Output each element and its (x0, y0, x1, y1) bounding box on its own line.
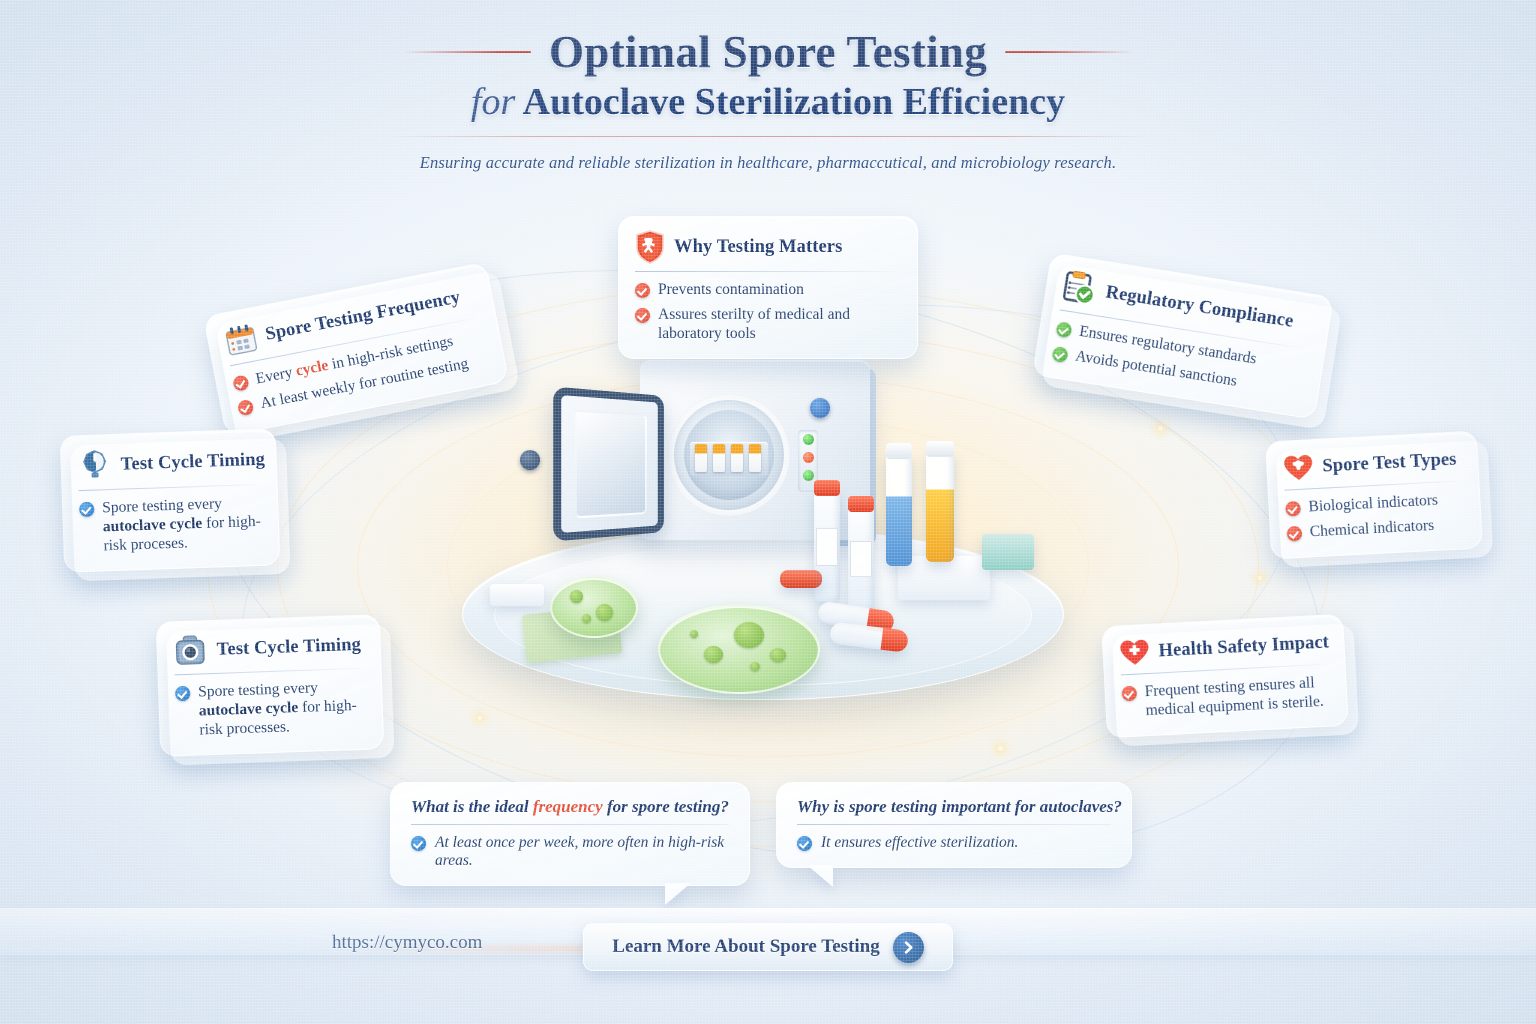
faq-answer: It ensures effective sterilization. (821, 834, 1018, 852)
check-icon (635, 308, 650, 323)
shield-icon (635, 230, 665, 264)
faq-divider (411, 824, 729, 825)
chamber-vial (731, 444, 743, 472)
learn-more-button[interactable]: Learn More About Spore Testing (583, 923, 953, 971)
colony (770, 648, 786, 662)
title-line2: Autoclave Sterilization Efficiency (523, 81, 1065, 123)
colony (734, 622, 764, 648)
bullet-text: Spore testing every autoclave cycle for … (198, 678, 367, 741)
autoclave-start-button (810, 398, 830, 418)
test-tube-yellow (926, 452, 954, 562)
tube-cap (814, 480, 840, 496)
card-divider (79, 484, 261, 491)
card-title: Spore Test Types (1322, 449, 1457, 477)
check-icon (175, 686, 191, 702)
card-header: Why Testing Matters (635, 230, 901, 264)
vial-red-cap-top (780, 570, 822, 588)
title-rule-right (1005, 51, 1133, 53)
colony (570, 590, 583, 603)
door-handle (520, 450, 540, 470)
check-icon (232, 374, 250, 392)
title-row: Optimal Spore Testing (0, 26, 1536, 78)
list-item: Biological indicators (1285, 490, 1464, 518)
card-divider (175, 668, 365, 676)
page-title: Optimal Spore Testing (549, 26, 987, 78)
card-title: Why Testing Matters (674, 237, 842, 258)
bullet-text: Assures sterilty of medical and laborato… (658, 306, 901, 344)
card-bullet-list: Prevents contamination Assures sterilty … (635, 281, 901, 344)
check-icon (237, 399, 255, 417)
card-bullet-list: Spore testing every autoclave cycle for … (79, 494, 263, 557)
highlight-word: cycle (294, 357, 329, 380)
faq-answer: At least once per week, more often in hi… (435, 834, 729, 870)
card-bullet-list: Spore testing every autoclave cycle for … (175, 678, 367, 741)
faq-bubble-frequency[interactable]: What is the ideal frequency for spore te… (390, 782, 750, 886)
gauge-timer-icon (77, 448, 112, 483)
paper-stack (490, 584, 544, 606)
chamber-vial (713, 444, 725, 472)
door-glass (575, 409, 647, 518)
title-for-word: for (471, 81, 515, 123)
heart-icon (1283, 453, 1314, 483)
spark (998, 746, 1003, 751)
list-item: Chemical indicators (1286, 515, 1465, 543)
bullet-text: Frequent testing ensures all medical equ… (1144, 674, 1331, 721)
card-header: Health Safety Impact (1119, 629, 1328, 668)
spark (1158, 426, 1163, 431)
bullet-text: Chemical indicators (1309, 517, 1434, 542)
test-tube-blue (886, 454, 912, 566)
highlight-word: frequency (533, 797, 603, 816)
spark (1258, 576, 1262, 580)
spark (478, 716, 482, 720)
list-item: Spore testing every autoclave cycle for … (175, 678, 367, 741)
bullet-text: Spore testing every autoclave cycle for … (102, 494, 263, 556)
page-subtitle-line: for Autoclave Sterilization Efficiency (0, 80, 1536, 124)
petri-dish-large (658, 604, 820, 694)
check-icon (1287, 526, 1303, 542)
faq-question: What is the ideal frequency for spore te… (411, 797, 729, 817)
teal-box (982, 534, 1034, 570)
chamber-vial (749, 444, 761, 472)
bubble-tail (807, 865, 833, 887)
camera-icon (173, 634, 208, 667)
check-icon (797, 836, 812, 851)
bullet-text: Prevents contamination (658, 281, 804, 300)
card-spore-test-types[interactable]: Spore Test Types Biological indicators C… (1265, 431, 1483, 560)
title-rule-left (403, 51, 531, 53)
check-icon (1121, 686, 1137, 702)
card-bullet-list: Frequent testing ensures all medical equ… (1121, 674, 1331, 723)
tube-cap (926, 441, 954, 457)
faq-question: Why is spore testing important for autoc… (797, 797, 1111, 817)
card-title: Health Safety Impact (1158, 632, 1329, 662)
footer-url[interactable]: https://cymyco.com (332, 932, 482, 954)
autoclave-door (553, 386, 664, 541)
card-health-safety-impact[interactable]: Health Safety Impact Frequent testing en… (1101, 614, 1349, 738)
colony (704, 646, 723, 663)
check-icon (1052, 346, 1069, 363)
check-icon (1055, 321, 1072, 338)
faq-answer-row: At least once per week, more often in hi… (411, 834, 729, 870)
tube-label (816, 528, 838, 566)
colony (582, 614, 591, 623)
led-green (803, 434, 814, 445)
tube-label (850, 541, 872, 578)
card-title: Test Cycle Timing (120, 449, 265, 475)
bubble-tail (665, 883, 691, 905)
card-test-cycle-timing-lower[interactable]: Test Cycle Timing Spore testing every au… (156, 614, 385, 756)
list-item: Frequent testing ensures all medical equ… (1121, 674, 1331, 723)
faq-bubble-importance[interactable]: Why is spore testing important for autoc… (776, 782, 1132, 868)
card-bullet-list: Biological indicators Chemical indicator… (1285, 490, 1465, 543)
list-item: Prevents contamination (635, 281, 901, 300)
faq-answer-row: It ensures effective sterilization. (797, 834, 1111, 852)
card-header: Test Cycle Timing (173, 629, 364, 668)
card-divider (635, 271, 901, 272)
heart-cross-icon (1119, 638, 1150, 668)
petri-dish-small (550, 576, 638, 638)
clipboard-check-icon (1061, 269, 1100, 308)
autoclave-illustration (462, 338, 1082, 698)
colony (750, 662, 760, 671)
tube-cap (886, 443, 912, 459)
card-why-testing-matters[interactable]: Why Testing Matters Prevents contaminati… (618, 216, 918, 359)
card-test-cycle-timing-upper[interactable]: Test Cycle Timing Spore testing every au… (60, 428, 281, 572)
infographic-canvas: Optimal Spore Testing for Autoclave Ster… (0, 0, 1536, 1024)
check-icon (411, 836, 426, 851)
colony (596, 604, 613, 621)
bullet-text: Biological indicators (1308, 492, 1438, 518)
led-green-2 (803, 470, 814, 481)
card-title: Test Cycle Timing (216, 634, 361, 660)
header-tagline: Ensuring accurate and reliable steriliza… (0, 153, 1536, 173)
check-icon (635, 283, 650, 298)
calendar-icon (222, 321, 260, 359)
tube-stand-block (898, 556, 990, 600)
card-divider (1285, 480, 1463, 490)
faq-divider (797, 824, 1111, 825)
chevron-right-icon (893, 932, 924, 963)
emphasis-text: autoclave cycle (103, 515, 203, 535)
colony (690, 630, 698, 638)
check-icon (1285, 501, 1301, 517)
emphasis-text: autoclave cycle (199, 699, 299, 719)
header-divider (388, 136, 1148, 137)
card-header: Test Cycle Timing (77, 443, 260, 483)
card-title: Regulatory Compliance (1104, 282, 1295, 332)
cta-label: Learn More About Spore Testing (612, 936, 879, 958)
tube-cap (848, 496, 874, 512)
check-icon (79, 502, 95, 518)
chamber-vial (695, 444, 707, 472)
list-item: Spore testing every autoclave cycle for … (79, 494, 263, 557)
card-header: Spore Test Types (1283, 445, 1462, 482)
header: Optimal Spore Testing for Autoclave Ster… (0, 26, 1536, 173)
test-tube-red-2 (848, 506, 874, 614)
led-red (803, 452, 814, 463)
list-item: Assures sterilty of medical and laborato… (635, 306, 901, 344)
